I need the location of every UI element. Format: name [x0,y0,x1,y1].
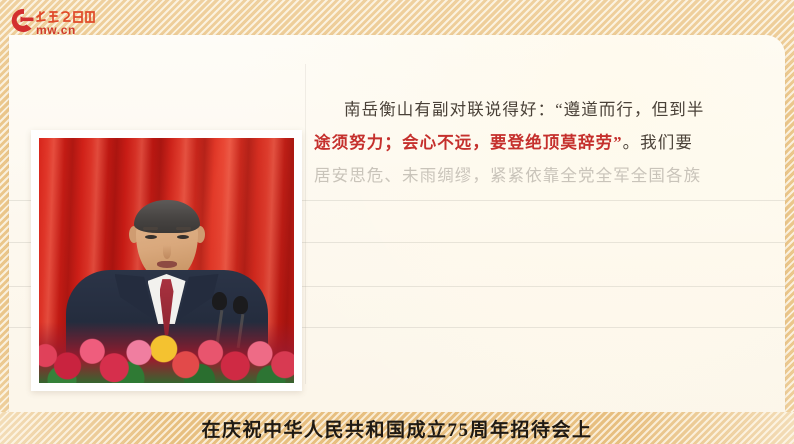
eyebrow-left [143,227,158,230]
caption-text: 在庆祝中华人民共和国成立75周年招待会上 [201,415,592,442]
quote-highlight: 途须努力；会心不远，要登绝顶莫辞劳” [314,133,623,152]
nose [163,245,171,259]
flower-arrangement [39,322,294,383]
quote-line-3: 居安思危、未雨绸缪，紧紧依靠全党全军全国各族 [314,159,764,192]
photo-frame [31,130,302,391]
quote-text-block: 南岳衡山有副对联说得好：“遵道而行，但到半 途须努力；会心不远，要登绝顶莫辞劳”… [314,93,764,192]
quote-line-2: 途须努力；会心不远，要登绝顶莫辞劳”。我们要 [314,126,764,159]
microphone-head [212,292,227,310]
eyebrow-right [176,227,191,230]
logo-g-mark [12,9,34,32]
eye-right [177,235,189,239]
mouth [157,261,177,268]
vertical-gutter-line [305,64,306,384]
eye-left [145,235,157,239]
svg-text:mw.cn: mw.cn [36,23,76,37]
quote-line-2-tail: 。我们要 [623,133,693,152]
logo-latin-text: mw.cn [36,23,76,37]
quote-line-1: 南岳衡山有副对联说得好：“遵道而行，但到半 [314,93,764,126]
content-card: 南岳衡山有副对联说得好：“遵道而行，但到半 途须努力；会心不远，要登绝顶莫辞劳”… [9,35,785,412]
speaker-photo [39,138,294,383]
microphone-head [233,296,248,314]
caption-band: 在庆祝中华人民共和国成立75周年招待会上 [0,412,794,444]
gmw-logo: mw.cn [4,4,108,38]
logo-cn-characters [37,12,94,22]
slide-background: mw.cn [0,0,794,444]
